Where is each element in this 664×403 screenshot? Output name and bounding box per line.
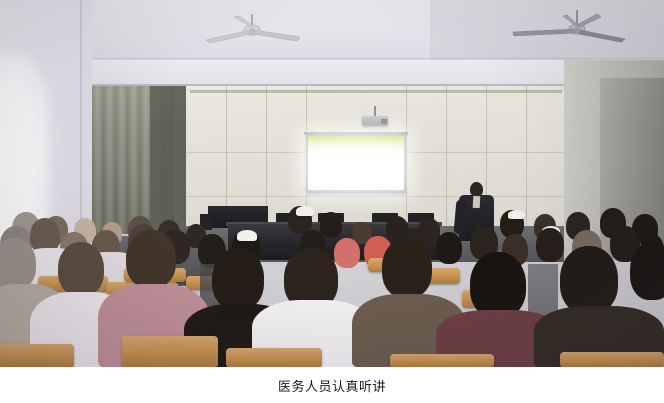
- nurse-cap: [508, 210, 525, 219]
- audience-head: [470, 252, 526, 318]
- page-root: 医务人员认真听讲: [0, 0, 664, 403]
- projection-screen: [308, 136, 404, 190]
- ceiling-fan-right-icon: [505, 8, 630, 50]
- presenter-shirt: [473, 196, 481, 208]
- photo-caption: 医务人员认真听讲: [278, 376, 386, 395]
- lecture-desk: [390, 354, 494, 367]
- audience-head: [212, 248, 264, 310]
- wall-panel-divider: [446, 86, 447, 226]
- ceiling-seam: [0, 58, 664, 59]
- ceiling-fan-left-icon: [196, 12, 306, 52]
- audience-head: [334, 238, 360, 268]
- audience-head: [0, 238, 36, 290]
- wall-panel-divider: [526, 86, 527, 226]
- nurse-cap: [237, 230, 257, 241]
- wall-rail: [190, 90, 562, 93]
- wall-panel-divider: [406, 86, 407, 226]
- caption-bar: 医务人员认真听讲: [0, 367, 664, 403]
- lecture-desk: [560, 352, 664, 367]
- audience-head: [536, 228, 564, 262]
- ceiling-fan-left: [196, 12, 306, 52]
- lecture-hall-photo: [0, 0, 664, 367]
- audience-head: [58, 242, 104, 296]
- audience-head: [382, 238, 432, 298]
- lecture-desk: [226, 348, 322, 367]
- wall-panel-divider: [266, 86, 267, 226]
- projector-lens-icon: [381, 119, 387, 124]
- lecture-desk: [0, 344, 74, 367]
- audience-head: [320, 212, 342, 238]
- curtain-right: [150, 86, 188, 236]
- lecture-desk: [122, 336, 218, 367]
- audience-head: [560, 246, 618, 314]
- nurse-cap: [296, 206, 314, 216]
- audience-head: [630, 242, 664, 300]
- wall-panel-divider: [226, 86, 227, 226]
- audience-head: [436, 232, 462, 264]
- wall-panel-seam: [186, 196, 564, 197]
- ceiling-fan-right: [505, 8, 630, 50]
- audience-head: [126, 230, 176, 288]
